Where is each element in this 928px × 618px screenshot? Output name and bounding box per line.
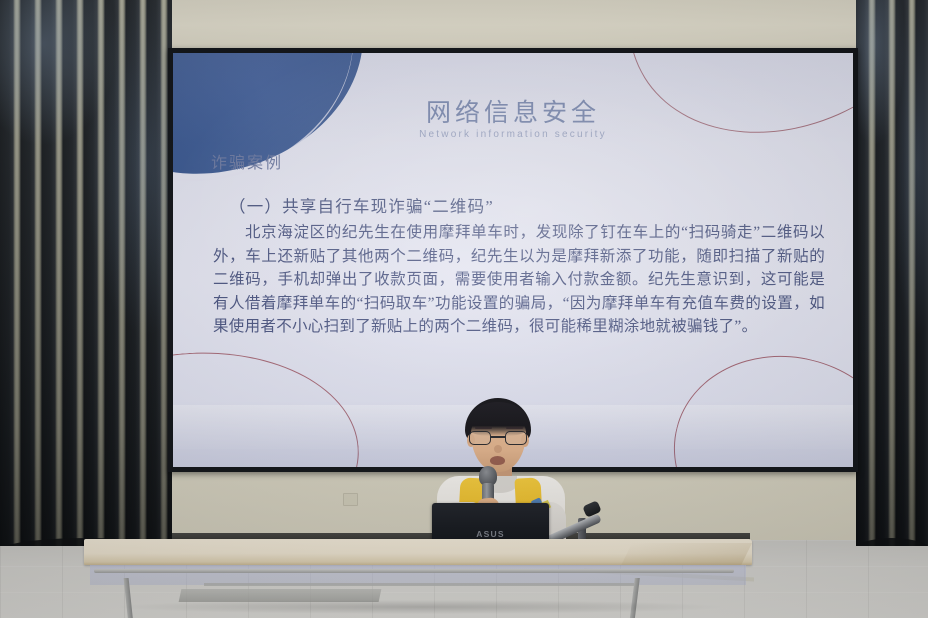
slide-body-text: 北京海淀区的纪先生在使用摩拜单车时，发现除了钉在车上的“扫码骑走”二维码以外，车… — [213, 221, 825, 339]
lecture-hall-scene: 网络信息安全 Network information security 诈骗案例… — [0, 0, 928, 618]
slat-panel-sheen — [856, 0, 928, 546]
floor-shadow — [120, 600, 720, 614]
wall-outlet — [343, 493, 358, 506]
glasses-bridge — [491, 436, 505, 438]
table-brace — [204, 583, 634, 586]
slide-section-label: 诈骗案例 — [211, 149, 283, 173]
table-underside — [90, 565, 746, 585]
acoustic-slat-wall-right — [856, 0, 928, 546]
glasses-lens-left — [469, 431, 491, 445]
slide-title: 网络信息安全 — [173, 93, 853, 129]
table-top — [84, 539, 752, 565]
acoustic-slat-wall-left — [0, 0, 172, 546]
slat-panel-sheen — [0, 0, 172, 546]
laptop-brand-logo: ASUS — [432, 529, 549, 539]
presenter-glasses — [468, 431, 529, 445]
table-rail — [94, 569, 734, 573]
presenter-nose — [494, 445, 502, 453]
glasses-lens-right — [505, 431, 527, 445]
presenter-mouth — [490, 456, 505, 465]
slide-heading: （一）共享自行车现诈骗“二维码” — [229, 193, 494, 217]
slide-subtitle: Network information security — [173, 129, 853, 140]
